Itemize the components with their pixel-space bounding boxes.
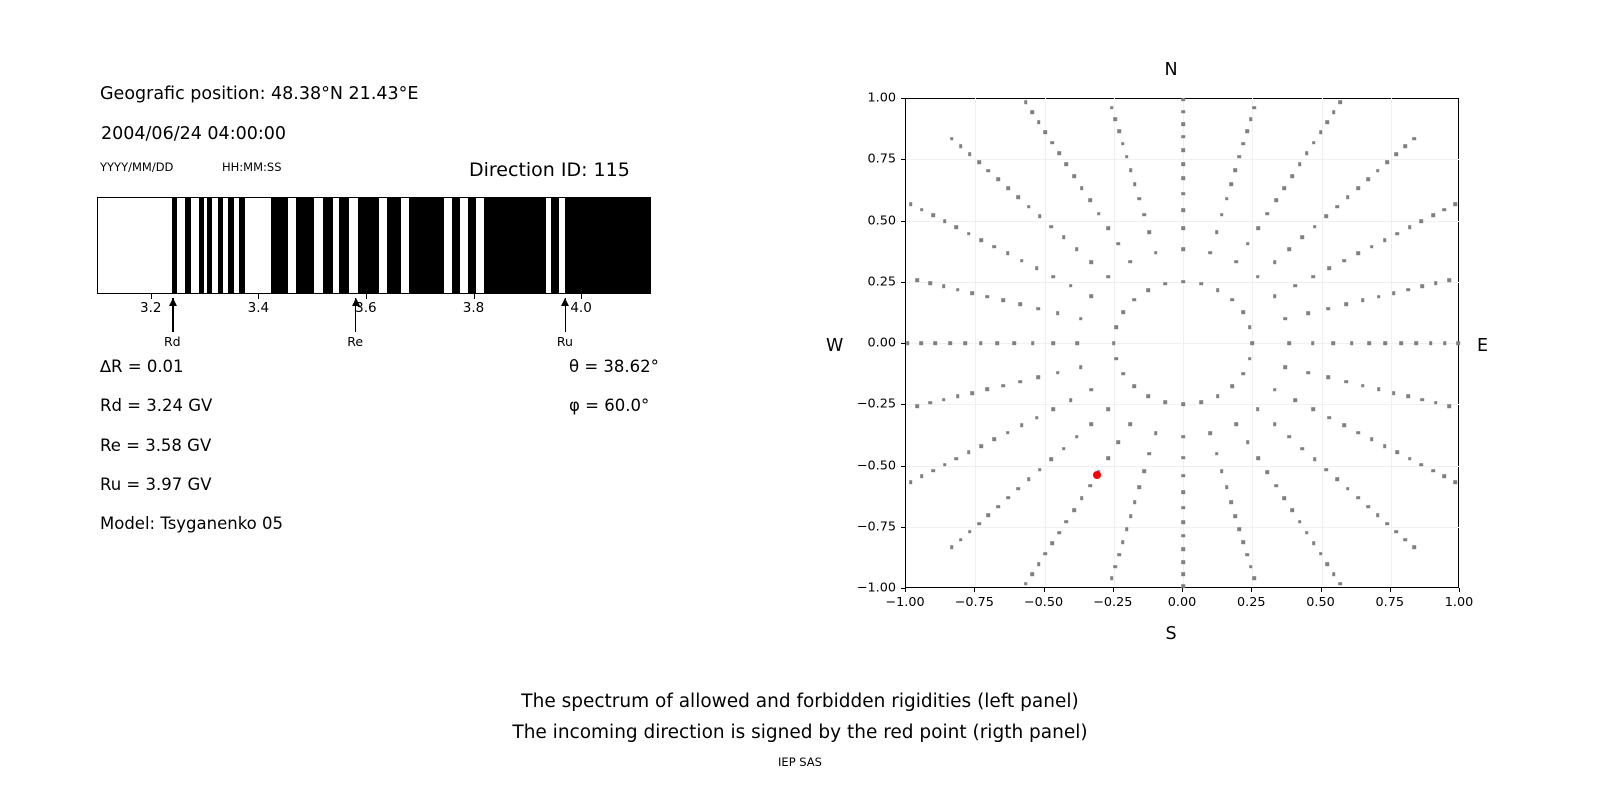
- direction-sample-point: [1234, 168, 1238, 172]
- direction-sample-point: [1106, 456, 1110, 460]
- direction-sample-point: [1242, 142, 1246, 146]
- direction-sample-point: [1357, 431, 1361, 435]
- direction-sample-point: [1129, 514, 1133, 518]
- direction-sample-point: [1112, 341, 1116, 345]
- direction-sample-point: [1037, 562, 1041, 566]
- direction-sample-point: [992, 438, 996, 442]
- direction-sample-point: [1298, 520, 1302, 524]
- direction-sample-point: [1147, 288, 1151, 292]
- direction-sample-point: [996, 505, 1000, 509]
- direction-sample-point: [955, 225, 959, 229]
- direction-sample-point: [1408, 457, 1412, 461]
- direction-sample-point: [1163, 282, 1167, 286]
- phi-value: φ = 60.0°: [569, 396, 649, 415]
- direction-sample-point: [909, 202, 913, 206]
- direction-sample-point: [1234, 514, 1238, 518]
- direction-sample-point: [1293, 399, 1297, 403]
- time-format-hint: HH:MM:SS: [222, 160, 282, 174]
- direction-sample-point: [1290, 508, 1294, 512]
- direction-sample-point: [1181, 208, 1185, 212]
- rigidity-marker-label: Rd: [164, 334, 181, 349]
- direction-sample-point: [1215, 230, 1219, 234]
- ru-value: Ru = 3.97 GV: [100, 475, 212, 494]
- caption-line-2: The incoming direction is signed by the …: [0, 717, 1600, 748]
- direction-map-y-tick: [901, 98, 905, 99]
- direction-sample-point: [943, 219, 947, 223]
- direction-sample-point: [1106, 275, 1110, 279]
- allowed-band: [546, 198, 551, 293]
- forbidden-band: [228, 198, 233, 293]
- direction-sample-point: [1311, 341, 1315, 345]
- forbidden-band: [551, 198, 556, 293]
- direction-sample-point: [967, 232, 971, 236]
- direction-sample-point: [1443, 341, 1447, 345]
- rigidity-axis-tick-label: 3.8: [463, 300, 484, 316]
- direction-sample-point: [1229, 500, 1233, 504]
- direction-sample-point: [1248, 325, 1252, 329]
- direction-sample-point: [943, 463, 947, 467]
- direction-sample-point: [1148, 452, 1152, 456]
- direction-sample-point: [1447, 278, 1451, 282]
- direction-map-y-tick: [901, 404, 905, 405]
- direction-sample-point: [915, 404, 919, 408]
- direction-map-y-tick-label: 0.00: [843, 336, 896, 351]
- direction-sample-point: [1050, 542, 1054, 546]
- direction-sample-point: [1406, 288, 1410, 292]
- direction-sample-point: [1181, 456, 1185, 460]
- direction-map-x-tick: [905, 588, 906, 592]
- direction-sample-point: [1062, 236, 1066, 240]
- direction-map-x-tick-label: 0.25: [1237, 595, 1266, 610]
- forbidden-band: [358, 198, 380, 293]
- direction-map-y-tick: [901, 527, 905, 528]
- direction-sample-point: [1018, 380, 1022, 384]
- direction-sample-point: [1384, 341, 1388, 345]
- direction-sample-point: [1056, 312, 1060, 316]
- direction-sample-point: [1089, 388, 1093, 392]
- direction-sample-point: [1273, 422, 1277, 426]
- direction-sample-point: [1447, 404, 1451, 408]
- direction-sample-point: [1256, 226, 1260, 230]
- direction-sample-point: [1088, 199, 1092, 203]
- direction-sample-point: [1453, 480, 1457, 484]
- direction-sample-point: [1121, 142, 1125, 146]
- direction-sample-point: [1287, 341, 1291, 345]
- direction-map-panel: −1.00−0.75−0.50−0.250.000.250.500.751.00…: [800, 0, 1600, 660]
- direction-sample-point: [1344, 303, 1348, 307]
- direction-sample-point: [1209, 251, 1213, 255]
- direction-sample-point: [1370, 245, 1374, 249]
- direction-sample-point: [1242, 540, 1246, 544]
- institution-credit: IEP SAS: [0, 755, 1600, 769]
- datetime-label: 2004/06/24 04:00:00: [101, 124, 286, 144]
- direction-sample-point: [1121, 372, 1125, 376]
- direction-map-y-tick-label: 0.75: [843, 152, 896, 167]
- gridline-horizontal: [906, 159, 1459, 160]
- direction-sample-point: [1114, 325, 1118, 329]
- direction-sample-point: [1199, 400, 1203, 404]
- direction-sample-point: [928, 401, 932, 405]
- direction-sample-point: [1256, 275, 1260, 279]
- direction-sample-point: [1357, 252, 1361, 256]
- direction-sample-point: [1044, 552, 1048, 556]
- direction-sample-point: [1016, 487, 1020, 491]
- direction-sample-point: [1181, 122, 1185, 126]
- selected-direction-point[interactable]: [1093, 471, 1101, 479]
- arrow-head-icon: [169, 298, 177, 306]
- direction-sample-point: [1392, 391, 1396, 395]
- direction-sample-point: [1225, 197, 1229, 201]
- direction-sample-point: [1335, 478, 1339, 482]
- direction-sample-point: [1090, 260, 1094, 264]
- direction-sample-point: [1324, 215, 1328, 219]
- direction-sample-point: [1057, 152, 1061, 156]
- direction-sample-point: [1245, 553, 1249, 557]
- rigidity-axis-tick-label: 3.4: [248, 300, 269, 316]
- forbidden-band: [296, 198, 315, 293]
- direction-map-x-tick: [1182, 588, 1183, 592]
- direction-map-x-tick-label: −0.25: [1093, 595, 1132, 610]
- direction-sample-point: [1057, 531, 1061, 535]
- direction-sample-point: [1305, 152, 1309, 156]
- direction-sample-point: [1181, 148, 1185, 152]
- direction-sample-point: [1420, 463, 1424, 467]
- direction-sample-point: [1273, 388, 1277, 392]
- forbidden-band: [207, 198, 212, 293]
- direction-sample-point: [1125, 155, 1129, 159]
- direction-sample-point: [1366, 505, 1370, 509]
- direction-map-x-tick-label: −0.50: [1024, 595, 1063, 610]
- direction-map-x-tick: [1044, 588, 1045, 592]
- direction-sample-point: [909, 480, 913, 484]
- allowed-band: [559, 198, 564, 293]
- direction-sample-point: [1065, 163, 1069, 167]
- direction-sample-point: [1248, 357, 1252, 361]
- direction-sample-point: [1080, 496, 1084, 500]
- direction-sample-point: [1273, 294, 1277, 298]
- direction-sample-point: [1249, 565, 1253, 569]
- direction-sample-point: [1396, 451, 1400, 455]
- direction-sample-point: [1209, 432, 1213, 436]
- direction-sample-point: [1079, 365, 1083, 369]
- direction-sample-point: [1412, 546, 1416, 550]
- direction-sample-point: [1114, 357, 1118, 361]
- direction-sample-point: [977, 522, 981, 526]
- direction-sample-point: [1229, 182, 1233, 186]
- direction-sample-point: [1024, 582, 1028, 586]
- direction-sample-point: [1181, 534, 1185, 538]
- delta-r-value: ∆R = 0.01: [100, 357, 184, 376]
- geographic-position-label: Geografic position: 48.38°N 21.43°E: [100, 84, 418, 104]
- direction-sample-point: [1051, 408, 1055, 412]
- direction-map-x-tick: [1251, 588, 1252, 592]
- direction-sample-point: [950, 546, 954, 550]
- direction-sample-point: [1250, 341, 1254, 345]
- direction-sample-point: [1110, 106, 1114, 110]
- direction-sample-point: [1181, 248, 1185, 252]
- rigidity-axis-tick-label: 3.2: [140, 300, 161, 316]
- theta-value: θ = 38.62°: [569, 357, 659, 376]
- direction-sample-point: [1031, 341, 1035, 345]
- direction-sample-point: [1327, 416, 1331, 420]
- direction-sample-point: [950, 137, 954, 141]
- direction-sample-point: [1117, 553, 1121, 557]
- direction-map-x-tick: [1113, 588, 1114, 592]
- direction-map-y-tick: [901, 466, 905, 467]
- direction-sample-point: [1181, 280, 1185, 284]
- direction-sample-point: [979, 341, 983, 345]
- direction-sample-point: [1075, 435, 1079, 439]
- direction-sample-point: [1301, 447, 1305, 451]
- compass-north-label: N: [1164, 60, 1177, 80]
- direction-sample-point: [1129, 168, 1133, 172]
- direction-sample-point: [1006, 496, 1010, 500]
- direction-sample-point: [1312, 141, 1316, 145]
- direction-map-x-tick-label: −0.75: [955, 595, 994, 610]
- direction-map-x-tick: [974, 588, 975, 592]
- direction-sample-point: [995, 341, 999, 345]
- direction-sample-point: [1361, 299, 1365, 303]
- direction-sample-point: [942, 398, 946, 402]
- direction-sample-point: [1293, 284, 1297, 288]
- direction-sample-point: [1287, 247, 1291, 251]
- direction-map-x-tick-label: 0.75: [1376, 595, 1405, 610]
- forbidden-band: [468, 198, 476, 293]
- direction-sample-point: [1037, 120, 1041, 124]
- direction-sample-point: [1106, 407, 1110, 411]
- direction-sample-point: [931, 469, 935, 473]
- rigidity-spectrum-bar: [97, 197, 651, 294]
- direction-sample-point: [1062, 447, 1066, 451]
- direction-sample-point: [1284, 317, 1288, 321]
- direction-sample-point: [1181, 162, 1185, 166]
- direction-sample-point: [1282, 186, 1286, 190]
- direction-sample-point: [1342, 423, 1346, 427]
- direction-map-x-tick: [1321, 588, 1322, 592]
- direction-sample-point: [1306, 371, 1310, 375]
- arrow-head-icon: [561, 298, 569, 306]
- direction-sample-point: [1238, 155, 1242, 159]
- direction-sample-point: [955, 457, 959, 461]
- direction-sample-point: [959, 145, 963, 149]
- direction-sample-point: [1306, 312, 1310, 316]
- direction-sample-point: [1116, 440, 1120, 444]
- direction-sample-point: [948, 341, 952, 345]
- direction-map-x-tick-label: −1.00: [885, 595, 924, 610]
- direction-sample-point: [1138, 197, 1142, 201]
- direction-sample-point: [1181, 435, 1185, 439]
- direction-sample-point: [968, 153, 972, 157]
- direction-sample-point: [986, 388, 990, 392]
- direction-sample-point: [1319, 130, 1323, 134]
- direction-sample-point: [1404, 538, 1408, 542]
- direction-sample-point: [1020, 259, 1024, 263]
- direction-sample-point: [1376, 513, 1380, 517]
- direction-sample-point: [1404, 145, 1408, 149]
- direction-sample-point: [1012, 341, 1016, 345]
- direction-sample-point: [1181, 560, 1185, 564]
- direction-sample-point: [1234, 422, 1238, 426]
- direction-sample-point: [1335, 205, 1339, 209]
- direction-sample-point: [1148, 230, 1152, 234]
- direction-sample-point: [1027, 478, 1031, 482]
- direction-sample-point: [1069, 284, 1073, 288]
- direction-sample-point: [1434, 281, 1438, 285]
- direction-sample-point: [1429, 341, 1433, 345]
- direction-sample-point: [1356, 186, 1360, 190]
- direction-sample-point: [1225, 485, 1229, 489]
- direction-map-y-tick-label: −1.00: [843, 581, 896, 596]
- direction-map-y-tick: [901, 282, 905, 283]
- direction-map-x-tick-label: 1.00: [1445, 595, 1474, 610]
- direction-sample-point: [1147, 394, 1151, 398]
- direction-sample-point: [1080, 186, 1084, 190]
- gridline-horizontal: [906, 343, 1459, 344]
- direction-sample-point: [1366, 178, 1370, 182]
- gridline-horizontal: [906, 527, 1459, 528]
- re-value: Re = 3.58 GV: [100, 436, 211, 455]
- direction-sample-point: [956, 395, 960, 399]
- compass-west-label: W: [826, 336, 843, 356]
- direction-sample-point: [1326, 376, 1330, 380]
- direction-sample-point: [987, 513, 991, 517]
- direction-sample-point: [1038, 468, 1042, 472]
- direction-map-y-tick-label: 1.00: [843, 91, 896, 106]
- direction-sample-point: [1298, 163, 1302, 167]
- direction-sample-point: [1245, 130, 1249, 134]
- forbidden-band: [172, 198, 177, 293]
- direction-sample-point: [942, 285, 946, 289]
- direction-sample-point: [959, 538, 963, 542]
- rigidity-axis-tick: [366, 294, 367, 299]
- direction-sample-point: [971, 391, 975, 395]
- direction-sample-point: [963, 341, 967, 345]
- direction-sample-point: [1252, 106, 1256, 110]
- direction-sample-point: [1132, 385, 1136, 389]
- direction-sample-point: [1181, 135, 1185, 139]
- direction-map-axes: [905, 98, 1459, 588]
- direction-sample-point: [1220, 469, 1224, 473]
- direction-sample-point: [1442, 475, 1446, 479]
- direction-sample-point: [977, 161, 981, 165]
- direction-map-y-tick-label: 0.50: [843, 213, 896, 228]
- direction-sample-point: [1113, 565, 1117, 569]
- model-value: Model: Tsyganenko 05: [100, 514, 283, 533]
- direction-sample-point: [1273, 260, 1277, 264]
- direction-sample-point: [1181, 110, 1185, 114]
- direction-sample-point: [1181, 506, 1185, 510]
- direction-sample-point: [1035, 416, 1039, 420]
- direction-sample-point: [1154, 251, 1158, 255]
- forbidden-band: [271, 198, 287, 293]
- direction-sample-point: [1079, 317, 1083, 321]
- direction-sample-point: [1181, 177, 1185, 181]
- direction-sample-point: [979, 238, 983, 242]
- direction-sample-point: [1036, 376, 1040, 380]
- direction-sample-point: [1121, 540, 1125, 544]
- direction-sample-point: [987, 169, 991, 173]
- direction-sample-point: [1238, 528, 1242, 532]
- rd-value: Rd = 3.24 GV: [100, 396, 212, 415]
- direction-sample-point: [1181, 192, 1185, 196]
- direction-sample-point: [1052, 341, 1056, 345]
- direction-sample-point: [1075, 247, 1079, 251]
- date-format-hint: YYYY/MM/DD: [100, 160, 173, 174]
- direction-sample-point: [1367, 341, 1371, 345]
- direction-sample-point: [1006, 186, 1010, 190]
- direction-sample-point: [1072, 174, 1076, 178]
- direction-sample-point: [1065, 520, 1069, 524]
- direction-map-y-tick-label: −0.75: [843, 519, 896, 534]
- direction-sample-point: [1181, 402, 1185, 406]
- direction-sample-point: [1089, 294, 1093, 298]
- direction-map-y-tick: [901, 159, 905, 160]
- direction-sample-point: [1024, 100, 1028, 104]
- direction-sample-point: [1220, 213, 1224, 217]
- forbidden-band: [387, 198, 400, 293]
- forbidden-band: [199, 198, 204, 293]
- direction-sample-point: [1324, 468, 1328, 472]
- direction-sample-point: [1181, 520, 1185, 524]
- direction-sample-point: [1106, 226, 1110, 230]
- direction-sample-point: [1256, 456, 1260, 460]
- forbidden-band: [239, 198, 244, 293]
- direction-sample-point: [928, 281, 932, 285]
- direction-sample-point: [1311, 275, 1315, 279]
- direction-sample-point: [1338, 100, 1342, 104]
- direction-sample-point: [1075, 341, 1079, 345]
- direction-sample-point: [1431, 214, 1435, 218]
- gridline-horizontal: [906, 466, 1459, 467]
- rigidity-axis-tick-label: 4.0: [570, 300, 591, 316]
- direction-sample-point: [1266, 212, 1270, 216]
- direction-sample-point: [986, 295, 990, 299]
- direction-sample-point: [1370, 438, 1374, 442]
- forbidden-band: [452, 198, 460, 293]
- direction-map-y-tick: [901, 221, 905, 222]
- direction-sample-point: [1392, 291, 1396, 295]
- direction-sample-point: [1453, 202, 1457, 206]
- direction-id-label: Direction ID: 115: [469, 159, 630, 181]
- direction-sample-point: [1383, 444, 1387, 448]
- forbidden-band: [185, 198, 190, 293]
- forbidden-band: [565, 198, 570, 293]
- direction-sample-point: [1252, 576, 1256, 580]
- direction-sample-point: [1090, 422, 1094, 426]
- direction-sample-point: [1044, 130, 1048, 134]
- direction-sample-point: [1181, 547, 1185, 551]
- direction-sample-point: [920, 208, 924, 212]
- direction-sample-point: [1050, 458, 1054, 462]
- direction-sample-point: [1376, 169, 1380, 173]
- direction-sample-point: [1121, 311, 1125, 315]
- direction-sample-point: [1313, 458, 1317, 462]
- direction-sample-point: [1396, 232, 1400, 236]
- direction-sample-point: [1035, 267, 1039, 271]
- direction-sample-point: [1132, 298, 1136, 302]
- direction-sample-point: [1274, 199, 1278, 203]
- direction-sample-point: [1006, 252, 1010, 256]
- direction-sample-point: [931, 214, 935, 218]
- direction-map-x-tick-label: 0.50: [1306, 595, 1335, 610]
- direction-sample-point: [934, 341, 938, 345]
- direction-sample-point: [1412, 137, 1416, 141]
- direction-sample-point: [1128, 260, 1132, 264]
- direction-sample-point: [915, 278, 919, 282]
- direction-sample-point: [1420, 219, 1424, 223]
- direction-sample-point: [1394, 530, 1398, 534]
- direction-sample-point: [1290, 174, 1294, 178]
